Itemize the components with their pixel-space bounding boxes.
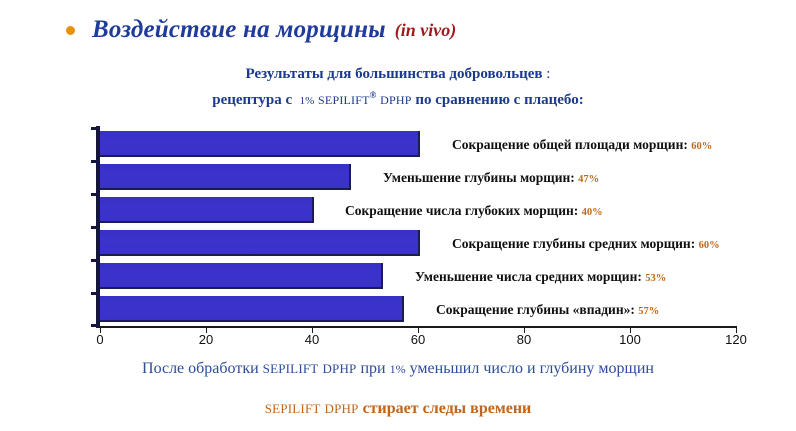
subtitle-concentration: 1% [300,95,315,107]
bar-value-2: 40% [582,207,603,218]
bar-value-4: 53% [645,273,666,284]
subtitle-line-1: Результаты для большинства добровольцев … [0,64,796,85]
bar-label-3: Сокращение глубины средних морщин: 60% [452,236,720,252]
page-title: Воздействие на морщины [92,16,386,44]
bar-value-0: 60% [691,141,712,152]
y-axis-tick [91,226,97,229]
bar-0[interactable] [100,131,418,155]
subtitle-brand-grade: DPHP [380,93,411,107]
y-axis-tick [91,259,97,262]
tagline-brand: SEPILIFT [265,401,321,416]
bar-value-3: 60% [699,240,720,251]
bar-label-2-sep: : [574,203,579,218]
bar-3[interactable] [100,230,418,254]
bar-label-0-text: Сокращение общей площади морщин [452,137,683,152]
bar-chart: Сокращение общей площади морщин: 60% Уме… [0,126,796,331]
footer-line1-grade: DPHP [322,361,356,376]
footer-line1-prefix: После обработки [142,360,259,377]
subtitle-line-2-colon: : [579,92,584,108]
bar-value-1: 47% [578,174,599,185]
bar-label-0: Сокращение общей площади морщин: 60% [452,137,712,153]
bar-value-5: 57% [638,306,659,317]
bar-2[interactable] [100,197,312,221]
tagline-grade: DPHP [325,401,359,416]
bar-label-1-sep: : [570,170,575,185]
footer-tagline: SEPILIFT DPHP стирает следы времени [0,400,796,418]
bar-label-4: Уменьшение числа средних морщин: 53% [415,269,666,285]
footer-line1-suffix: уменьшил число и глубину морщин [410,360,654,377]
bar-label-1-text: Уменьшение глубины морщин [383,170,570,185]
y-axis-tick [91,324,97,327]
x-axis-label-0: 0 [96,332,103,347]
x-axis-label-3: 60 [411,332,425,347]
footer-line1-brand: SEPILIFT [263,361,319,376]
bar-5[interactable] [100,296,402,320]
y-axis-tick [91,193,97,196]
bar-label-2-text: Сокращение числа глубоких морщин [345,203,574,218]
bar-label-1: Уменьшение глубины морщин: 47% [383,170,599,186]
x-axis-label-1: 20 [199,332,213,347]
footer-line1-concentration: 1% [390,362,406,376]
title-note-in-vivo: (in vivo) [395,20,456,41]
chart-subtitle: Результаты для большинства добровольцев … [0,64,796,112]
tagline-text: стирает следы времени [363,400,532,417]
bar-label-5-text: Сокращение глубины «впадин» [436,302,630,317]
bar-label-0-sep: : [683,137,688,152]
x-axis-label-4: 80 [517,332,531,347]
footer-conclusion-line: После обработки SEPILIFT DPHP при 1% уме… [0,360,796,378]
y-axis-tick [91,292,97,295]
y-axis-tick [91,160,97,163]
bar-label-3-text: Сокращение глубины средних морщин [452,236,691,251]
registered-trademark-icon: ® [370,90,377,100]
x-axis-label-5: 100 [619,332,641,347]
bar-1[interactable] [100,164,349,188]
y-axis-tick [91,127,97,130]
subtitle-formula-text: рецептура с [212,92,292,108]
bar-label-2: Сокращение числа глубоких морщин: 40% [345,203,603,219]
bar-label-5: Сокращение глубины «впадин»: 57% [436,302,659,318]
bar-label-3-sep: : [691,236,696,251]
slide-title-row: Воздействие на морщины (in vivo) [66,16,456,44]
bar-label-4-sep: : [637,269,642,284]
bar-label-4-text: Уменьшение числа средних морщин [415,269,637,284]
x-axis-label-6: 120 [725,332,747,347]
subtitle-line-1-colon: : [543,66,551,82]
bar-4[interactable] [100,263,381,287]
subtitle-line-2: рецептура с 1% SEPILIFT® DPHP по сравнен… [0,85,796,112]
bar-label-5-sep: : [630,302,635,317]
bullet-dot-icon [66,26,75,35]
subtitle-brand-name: SEPILIFT [318,93,370,107]
x-axis-label-2: 40 [305,332,319,347]
footer-line1-mid: при [360,360,385,377]
subtitle-comparison-text: по сравнению с плацебо [415,92,578,108]
subtitle-line-1-text: Результаты для большинства добровольцев [246,66,543,82]
